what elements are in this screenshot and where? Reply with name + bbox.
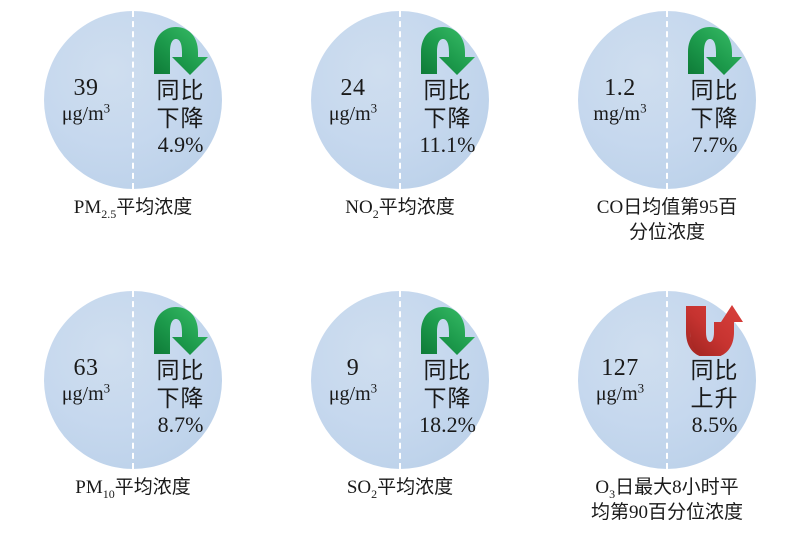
unit-text: μg/m (329, 103, 371, 125)
value-column: 9 μg/m3 (311, 291, 400, 469)
caption-subscript: 2.5 (101, 207, 116, 221)
trend-column: 同比 下降 7.7% (667, 11, 756, 189)
up-arrow-icon (684, 304, 746, 356)
indicator-card-o3: 127 μg/m3 同比 上升 8.5% O3日最大8小时平 均第90百分位浓度 (534, 280, 800, 548)
indicator-unit: μg/m3 (62, 382, 110, 406)
down-arrow-icon (150, 24, 212, 76)
unit-text: μg/m (62, 103, 104, 125)
unit-text: μg/m (62, 383, 104, 405)
trend-column: 同比 下降 11.1% (400, 11, 489, 189)
trend-percent: 7.7% (692, 132, 738, 159)
trend-column: 同比 下降 18.2% (400, 291, 489, 469)
indicator-unit: μg/m3 (329, 102, 377, 126)
indicator-circle: 127 μg/m3 同比 上升 8.5% (578, 291, 756, 469)
trend-label-yoy: 同比 (424, 77, 472, 105)
caption-prefix: CO日均值第95百 (597, 197, 737, 218)
trend-label-direction: 上升 (691, 385, 739, 413)
indicator-value: 39 (74, 74, 99, 102)
indicator-card-so2: 9 μg/m3 同比 下降 18.2% SO2平均浓度 (267, 280, 533, 548)
trend-label-direction: 下降 (157, 385, 205, 413)
indicator-circle: 9 μg/m3 同比 下降 18.2% (311, 291, 489, 469)
value-column: 1.2 mg/m3 (578, 11, 667, 189)
indicator-card-co: 1.2 mg/m3 同比 下降 7.7% CO日均值第95百 分位浓度 (534, 0, 800, 268)
caption-prefix: PM (74, 197, 101, 218)
indicator-circle: 63 μg/m3 同比 下降 8.7% (44, 291, 222, 469)
indicator-circle: 39 μg/m3 同比 下降 4.9% (44, 11, 222, 189)
indicator-caption: SO2平均浓度 (267, 476, 533, 501)
trend-percent: 8.5% (692, 412, 738, 439)
trend-label-direction: 下降 (424, 385, 472, 413)
caption-suffix: 日最大8小时平 (615, 477, 739, 498)
down-arrow-icon (684, 24, 746, 76)
value-column: 63 μg/m3 (44, 291, 133, 469)
caption-line-1: PM10平均浓度 (6, 476, 260, 501)
value-column: 24 μg/m3 (311, 11, 400, 189)
caption-line-1: O3日最大8小时平 (540, 476, 794, 501)
caption-line-2: 分位浓度 (540, 221, 794, 246)
indicator-card-pm10: 63 μg/m3 同比 下降 8.7% PM10平均浓度 (0, 280, 266, 548)
trend-column: 同比 下降 8.7% (133, 291, 222, 469)
caption-prefix: O (595, 477, 609, 498)
trend-label-direction: 下降 (157, 105, 205, 133)
indicator-value: 24 (341, 74, 366, 102)
caption-prefix: PM (75, 477, 102, 498)
caption-suffix: 平均浓度 (379, 197, 455, 218)
caption-line-1: PM2.5平均浓度 (6, 196, 260, 221)
trend-percent: 8.7% (158, 412, 204, 439)
indicator-value: 127 (601, 354, 639, 382)
caption-line-1: NO2平均浓度 (273, 196, 527, 221)
indicator-caption: NO2平均浓度 (267, 196, 533, 221)
down-arrow-icon (417, 304, 479, 356)
indicator-unit: μg/m3 (329, 382, 377, 406)
caption-line-1: CO日均值第95百 (540, 196, 794, 221)
indicator-card-no2: 24 μg/m3 同比 下降 11.1% NO2平均浓度 (267, 0, 533, 268)
unit-superscript: 3 (371, 381, 378, 396)
caption-prefix: NO (345, 197, 372, 218)
indicator-card-pm25: 39 μg/m3 同比 下降 4.9% PM2.5平均浓度 (0, 0, 266, 268)
unit-superscript: 3 (638, 381, 645, 396)
trend-column: 同比 下降 4.9% (133, 11, 222, 189)
down-arrow-icon (150, 304, 212, 356)
indicator-caption: CO日均值第95百 分位浓度 (534, 196, 800, 245)
indicator-caption: PM10平均浓度 (0, 476, 266, 501)
caption-suffix: 平均浓度 (116, 197, 192, 218)
down-arrow-icon (417, 24, 479, 76)
indicator-unit: μg/m3 (596, 382, 644, 406)
caption-line-1: SO2平均浓度 (273, 476, 527, 501)
indicator-value: 63 (74, 354, 99, 382)
caption-subscript: 10 (103, 487, 115, 501)
unit-superscript: 3 (104, 381, 111, 396)
indicator-circle: 1.2 mg/m3 同比 下降 7.7% (578, 11, 756, 189)
trend-label-yoy: 同比 (157, 77, 205, 105)
value-column: 127 μg/m3 (578, 291, 667, 469)
indicator-unit: mg/m3 (593, 102, 646, 126)
trend-label-direction: 下降 (691, 105, 739, 133)
indicator-caption: PM2.5平均浓度 (0, 196, 266, 221)
indicator-circle: 24 μg/m3 同比 下降 11.1% (311, 11, 489, 189)
trend-label-direction: 下降 (424, 105, 472, 133)
unit-text: μg/m (596, 383, 638, 405)
indicator-value: 1.2 (604, 74, 636, 102)
trend-label-yoy: 同比 (691, 77, 739, 105)
caption-suffix: 平均浓度 (377, 477, 453, 498)
unit-superscript: 3 (640, 101, 647, 116)
trend-label-yoy: 同比 (157, 357, 205, 385)
caption-prefix: SO (347, 477, 371, 498)
indicator-unit: μg/m3 (62, 102, 110, 126)
trend-percent: 18.2% (419, 412, 476, 439)
trend-label-yoy: 同比 (691, 357, 739, 385)
trend-percent: 11.1% (419, 132, 475, 159)
trend-column: 同比 上升 8.5% (667, 291, 756, 469)
unit-superscript: 3 (104, 101, 111, 116)
unit-text: μg/m (329, 383, 371, 405)
indicator-caption: O3日最大8小时平 均第90百分位浓度 (534, 476, 800, 525)
unit-superscript: 3 (371, 101, 378, 116)
unit-text: mg/m (593, 103, 640, 125)
indicator-value: 9 (347, 354, 360, 382)
trend-percent: 4.9% (158, 132, 204, 159)
air-quality-indicator-grid: 39 μg/m3 同比 下降 4.9% PM2.5平均浓度 (0, 0, 800, 536)
value-column: 39 μg/m3 (44, 11, 133, 189)
caption-suffix: 平均浓度 (115, 477, 191, 498)
trend-label-yoy: 同比 (424, 357, 472, 385)
caption-line-2: 均第90百分位浓度 (540, 501, 794, 526)
